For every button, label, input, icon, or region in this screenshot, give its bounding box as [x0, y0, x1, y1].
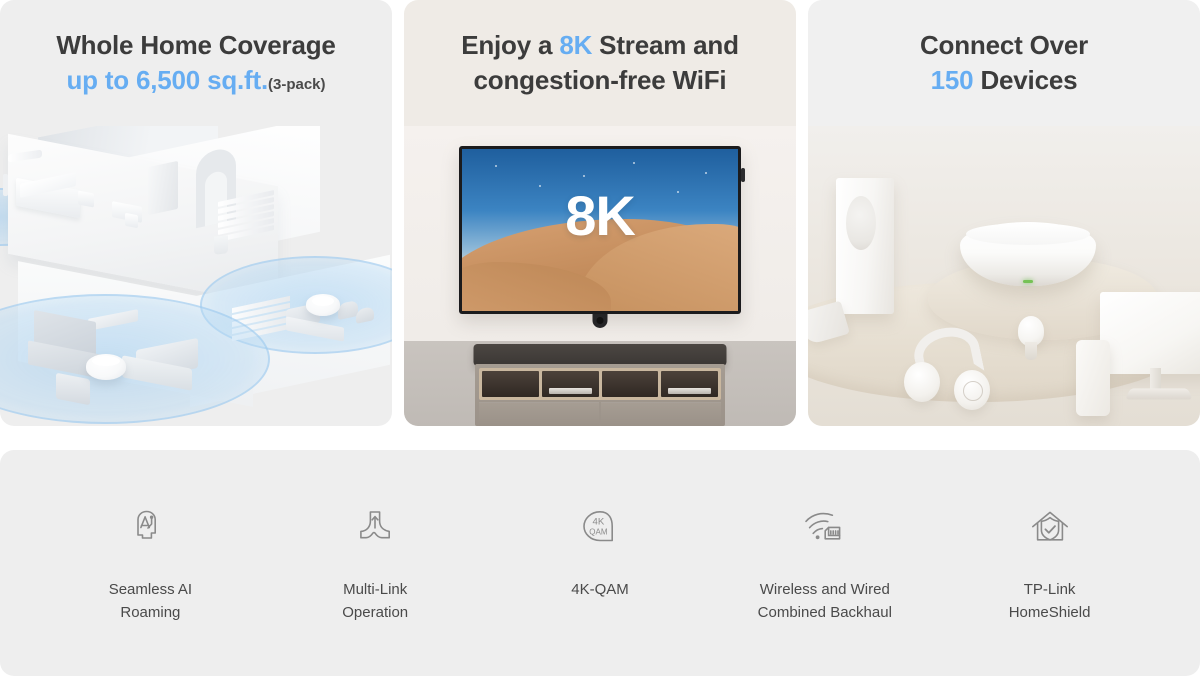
console-cubby [661, 371, 718, 397]
card-8k-stream: Enjoy a 8K Stream and congestion-free Wi… [404, 0, 796, 426]
media-console [475, 364, 725, 426]
feature-label: Seamless AI Roaming [109, 578, 192, 625]
console-device [668, 388, 711, 394]
feature-highlights-page: Whole Home Coverage up to 6,500 sq.ft.(3… [0, 0, 1200, 688]
mesh-router-puck [86, 354, 126, 380]
console-doors [479, 402, 721, 426]
card-3-title-highlight: 150 [931, 65, 974, 95]
feature-seamless-ai-roaming: Seamless AI Roaming [38, 502, 263, 625]
console-cubby [542, 371, 599, 397]
monitor-neck [1150, 368, 1161, 390]
feature-label: Multi-Link Operation [342, 578, 408, 625]
tv-screen: 8K [462, 149, 738, 311]
wifi-ethernet-icon [798, 502, 852, 556]
headphones [906, 328, 988, 410]
television: 8K [459, 146, 741, 314]
floorplan-chair [125, 213, 138, 229]
smart-bulb [1018, 316, 1044, 360]
feature-tp-link-homeshield: TP-Link HomeShield [937, 502, 1162, 625]
bulb-base [1025, 342, 1037, 360]
game-console [836, 178, 894, 314]
floorplan-floor-lamp [3, 174, 8, 196]
card-2-title: Enjoy a 8K Stream and congestion-free Wi… [404, 0, 796, 97]
headphones-earcup [904, 362, 940, 402]
multi-link-arrow-icon [348, 502, 402, 556]
headphones-earcup [954, 370, 990, 410]
feature-label: 4K-QAM [571, 578, 629, 601]
tv-screen-resolution-text: 8K [462, 188, 738, 244]
card-1-title-line1: Whole Home Coverage [56, 30, 335, 60]
card-1-title: Whole Home Coverage up to 6,500 sq.ft.(3… [0, 0, 392, 97]
tv-side-button [741, 168, 745, 182]
monitor-base [1125, 388, 1193, 399]
feature-cards-row: Whole Home Coverage up to 6,500 sq.ft.(3… [0, 0, 1200, 426]
floorplan-plant [214, 235, 228, 254]
card-connect-devices: Connect Over 150 Devices [808, 0, 1200, 426]
floorplan-nightstand [78, 190, 94, 207]
feature-4k-qam: 4K QAM 4K-QAM [488, 502, 713, 601]
card-1-pack-note: (3-pack) [268, 76, 326, 93]
soundbar [474, 344, 727, 366]
card-2-title-post: Stream and [592, 30, 739, 60]
feature-label: TP-Link HomeShield [1009, 578, 1091, 625]
console-shelf-row [479, 368, 721, 400]
card-3-title: Connect Over 150 Devices [808, 0, 1200, 97]
computer-monitor [1100, 292, 1200, 400]
card-2-title-pre: Enjoy a [461, 30, 559, 60]
qam-badge-top: 4K [593, 516, 605, 527]
ai-head-icon [123, 502, 177, 556]
card-3-title-line1: Connect Over [920, 30, 1088, 60]
home-shield-check-icon [1023, 502, 1077, 556]
monitor-screen [1100, 292, 1200, 374]
floorplan-wardrobe [148, 161, 178, 215]
feature-multi-link-operation: Multi-Link Operation [263, 502, 488, 625]
console-device [549, 388, 592, 394]
card-2-title-line2: congestion-free WiFi [474, 65, 727, 95]
mesh-router-puck [306, 294, 340, 316]
feature-label: Wireless and Wired Combined Backhaul [758, 578, 892, 625]
floorplan-illustration [0, 126, 392, 426]
qam-bubble-icon: 4K QAM [573, 502, 627, 556]
tv-illustration: 8K [404, 126, 796, 426]
qam-badge-bottom: QAM [589, 528, 608, 537]
console-cubby [602, 371, 659, 397]
card-2-title-highlight: 8K [559, 30, 592, 60]
console-cubby [482, 371, 539, 397]
smartphone [1076, 340, 1110, 416]
feature-combined-backhaul: Wireless and Wired Combined Backhaul [712, 502, 937, 625]
card-3-title-post: Devices [973, 65, 1077, 95]
card-1-title-highlight: up to 6,500 sq.ft. [66, 65, 268, 95]
feature-icons-bar: Seamless AI Roaming Multi-Link Operation… [0, 450, 1200, 676]
card-whole-home-coverage: Whole Home Coverage up to 6,500 sq.ft.(3… [0, 0, 392, 426]
devices-illustration [808, 126, 1200, 426]
